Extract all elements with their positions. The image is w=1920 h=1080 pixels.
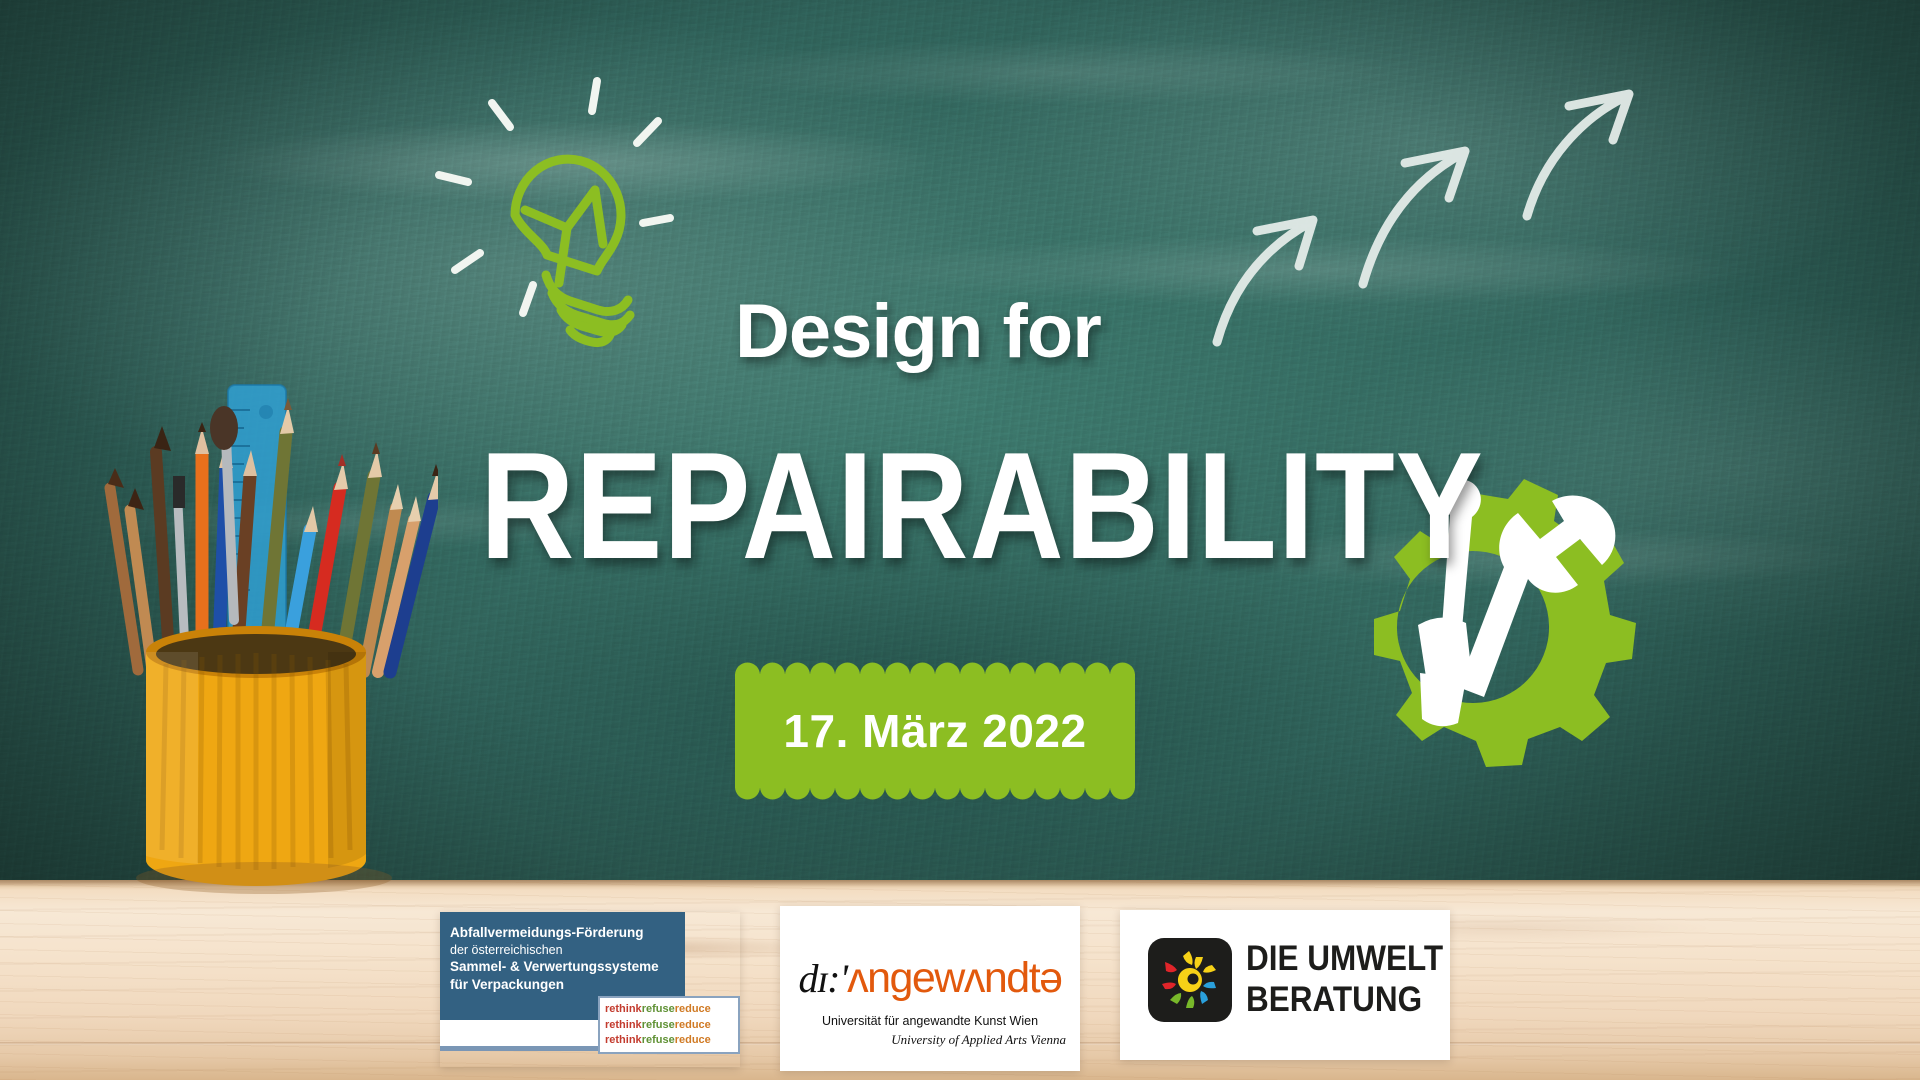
logo1-line-1: Abfallvermeidungs-Förderung (450, 924, 685, 942)
logo1-line-4: für Verpackungen (450, 976, 685, 994)
sponsor-logo-row: Abfallvermeidungs-Förderung der österrei… (0, 900, 1920, 1080)
logo3-line-1: DIE UMWELT (1246, 938, 1443, 979)
logo2-wordmark-line: dɪ:'ʌngewʌndtə (780, 954, 1080, 1003)
date-badge-label: 17. März 2022 (735, 662, 1135, 800)
eyebrow-heading: Design for (735, 288, 1101, 375)
slogan-rethink: rethink (605, 1019, 642, 1031)
page-title: REPAIRABILITY (480, 430, 1484, 582)
logo2-subtitle-de: Universität für angewandte Kunst Wien (780, 1014, 1080, 1028)
slogan-rethink: rethink (605, 1034, 642, 1046)
slogan-refuse: refuse (642, 1034, 675, 1046)
logo3-line-2: BERATUNG (1246, 979, 1443, 1020)
slogan-rethink: rethink (605, 1003, 642, 1015)
die-angewandte-logo[interactable]: dɪ:'ʌngewʌndtə Universität für angewandt… (780, 906, 1080, 1071)
slogan-reduce: reduce (675, 1034, 711, 1046)
logo1-slogan-row: rethinkrefusereduce (605, 1033, 735, 1049)
logo1-line-2: der österreichischen (450, 942, 685, 959)
slogan-reduce: reduce (675, 1019, 711, 1031)
logo2-wordmark: ʌngewʌndtə (847, 954, 1062, 1002)
logo1-slogan-box: rethinkrefusereduce rethinkrefusereduce … (598, 996, 740, 1054)
slogan-refuse: refuse (642, 1003, 675, 1015)
slogan-refuse: refuse (642, 1019, 675, 1031)
rising-arrows-icon (1195, 70, 1665, 360)
pencil-cup-illustration (78, 380, 438, 940)
logo2-phonetic: dɪ:' (798, 956, 847, 1001)
logo3-text-block: DIE UMWELT BERATUNG (1246, 938, 1443, 1021)
abfallvermeidungs-foerderung-logo[interactable]: Abfallvermeidungs-Förderung der österrei… (440, 912, 740, 1067)
die-umwelt-beratung-logo[interactable]: DIE UMWELT BERATUNG (1120, 910, 1450, 1060)
logo2-subtitle-en: University of Applied Arts Vienna (780, 1032, 1066, 1048)
poster-canvas: Design for REPAIRABILITY (0, 0, 1920, 1080)
logo1-line-3: Sammel- & Verwertungssysteme (450, 958, 685, 976)
pencil (154, 426, 171, 670)
logo1-text-block: Abfallvermeidungs-Förderung der österrei… (450, 924, 685, 994)
lightbulb-icon (415, 65, 715, 365)
logo1-slogan-row: rethinkrefusereduce (605, 1002, 735, 1018)
date-badge: 17. März 2022 (735, 662, 1135, 800)
slogan-reduce: reduce (675, 1003, 711, 1015)
sun-mark-icon (1148, 938, 1232, 1022)
cup-body (146, 626, 366, 886)
cup-shadow (136, 862, 392, 894)
logo1-slogan-row: rethinkrefusereduce (605, 1018, 735, 1034)
pencil-cup-photo (78, 380, 438, 940)
